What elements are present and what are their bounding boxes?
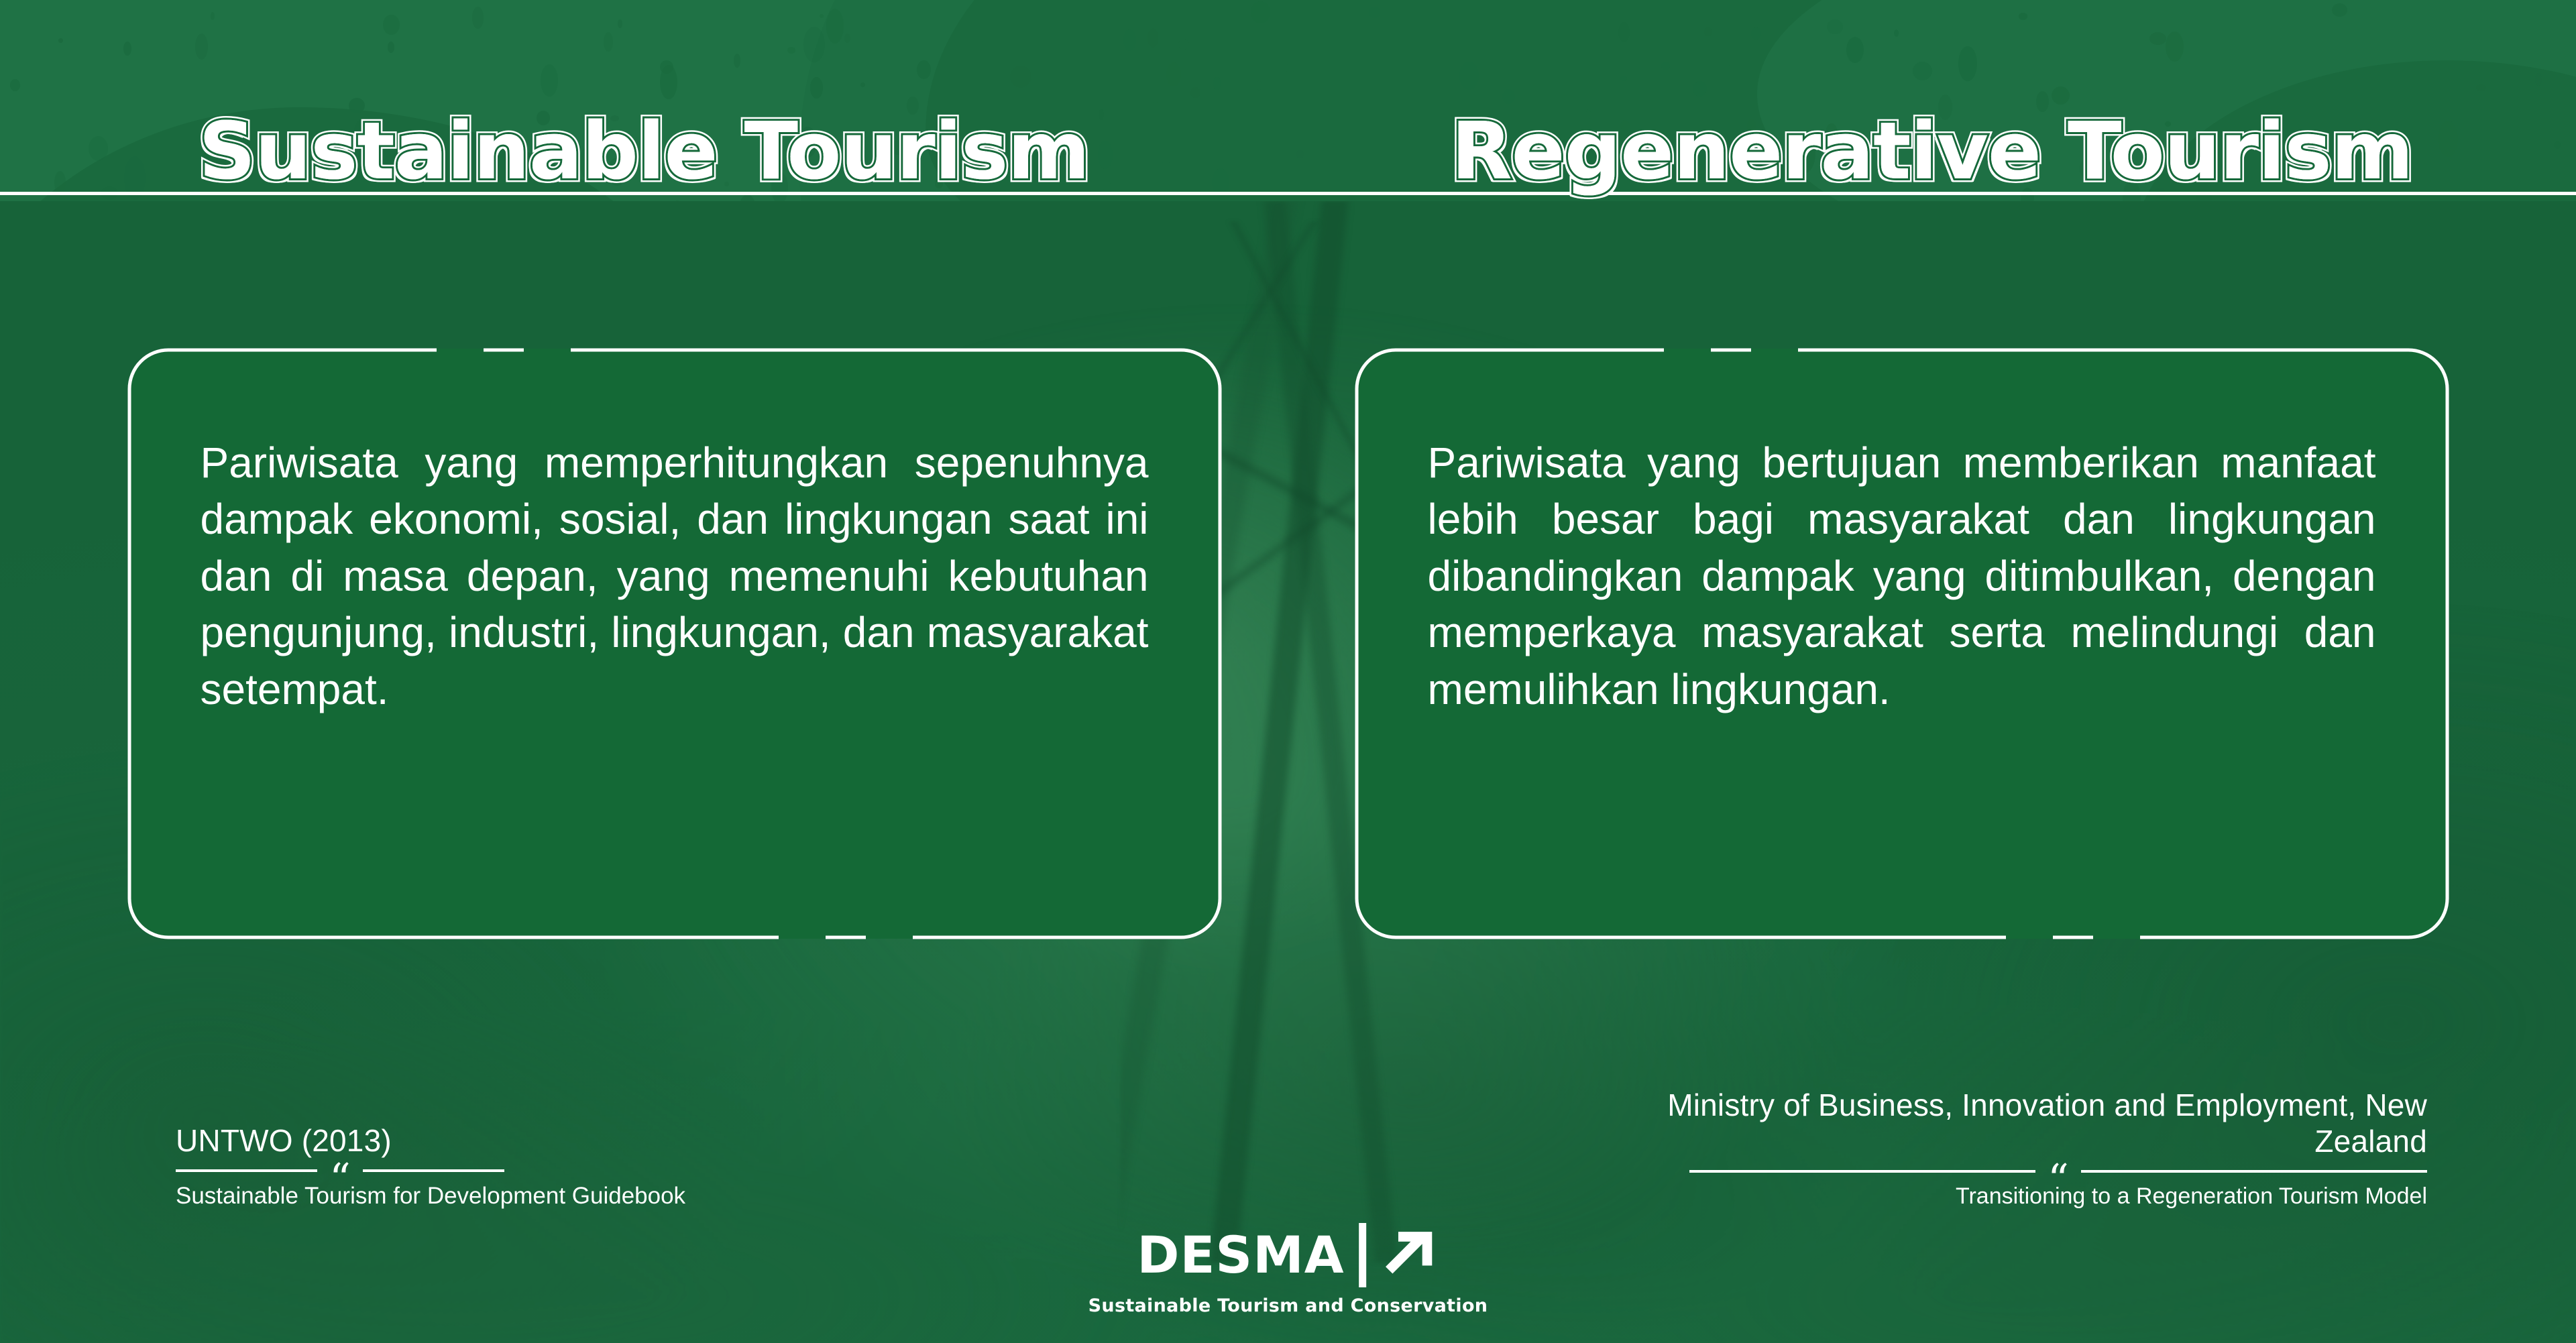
definition-cards: Pariwisata yang memperhitungkan sepenuhn… <box>0 349 2576 952</box>
title-sustainable-fill: Sustainable Tourism <box>199 105 1089 197</box>
attribution-reference-sustainable: Sustainable Tourism for Development Guid… <box>176 1181 846 1212</box>
title-wrap-sustainable: Sustainable Tourism Sustainable Tourism … <box>0 94 1288 208</box>
divider-rule-right <box>363 1169 504 1172</box>
title-regenerative-fill: Regenerative Tourism <box>1451 105 2413 197</box>
attribution-source-sustainable: UNTWO (2013) <box>176 1122 846 1159</box>
title-row: Sustainable Tourism Sustainable Tourism … <box>0 94 2576 208</box>
logo-tagline: Sustainable Tourism and Conservation <box>1088 1295 1488 1316</box>
divider-rule-left <box>176 1169 317 1172</box>
arrow-up-right-icon <box>1382 1226 1439 1284</box>
desma-logo: DESMA Sustainable Tourism and Conservati… <box>1088 1223 1488 1316</box>
definition-text-sustainable: Pariwisata yang memperhitungkan sepenuhn… <box>201 434 1149 717</box>
divider-rule-left <box>1689 1170 2035 1173</box>
attribution-sustainable: UNTWO (2013) “ Sustainable Tourism for D… <box>176 1122 846 1212</box>
logo-main-row: DESMA <box>1088 1223 1488 1287</box>
poster-canvas: Sustainable Tourism Sustainable Tourism … <box>0 0 2576 1343</box>
title-regenerative-tourism: Regenerative Tourism Regenerative Touris… <box>1451 105 2413 197</box>
title-sustainable-tourism: Sustainable Tourism Sustainable Tourism … <box>199 105 1089 197</box>
logo-wordmark: DESMA <box>1137 1230 1344 1281</box>
attribution-source-regenerative: Ministry of Business, Innovation and Emp… <box>1555 1087 2427 1160</box>
title-wrap-regenerative: Regenerative Tourism Regenerative Touris… <box>1288 94 2576 208</box>
definition-text-regenerative: Pariwisata yang bertujuan memberikan man… <box>1428 434 2376 717</box>
attribution-divider-regenerative: “ <box>1689 1170 2427 1173</box>
card-regenerative-tourism: Pariwisata yang bertujuan memberikan man… <box>1355 349 2449 939</box>
logo-divider-bar <box>1359 1223 1367 1287</box>
card-sustainable-tourism: Pariwisata yang memperhitungkan sepenuhn… <box>128 349 1221 939</box>
attribution-reference-regenerative: Transitioning to a Regeneration Tourism … <box>1555 1182 2427 1212</box>
attribution-divider-sustainable: “ <box>176 1169 504 1172</box>
divider-rule-right <box>2081 1170 2427 1173</box>
attribution-regenerative: Ministry of Business, Innovation and Emp… <box>1555 1087 2427 1212</box>
